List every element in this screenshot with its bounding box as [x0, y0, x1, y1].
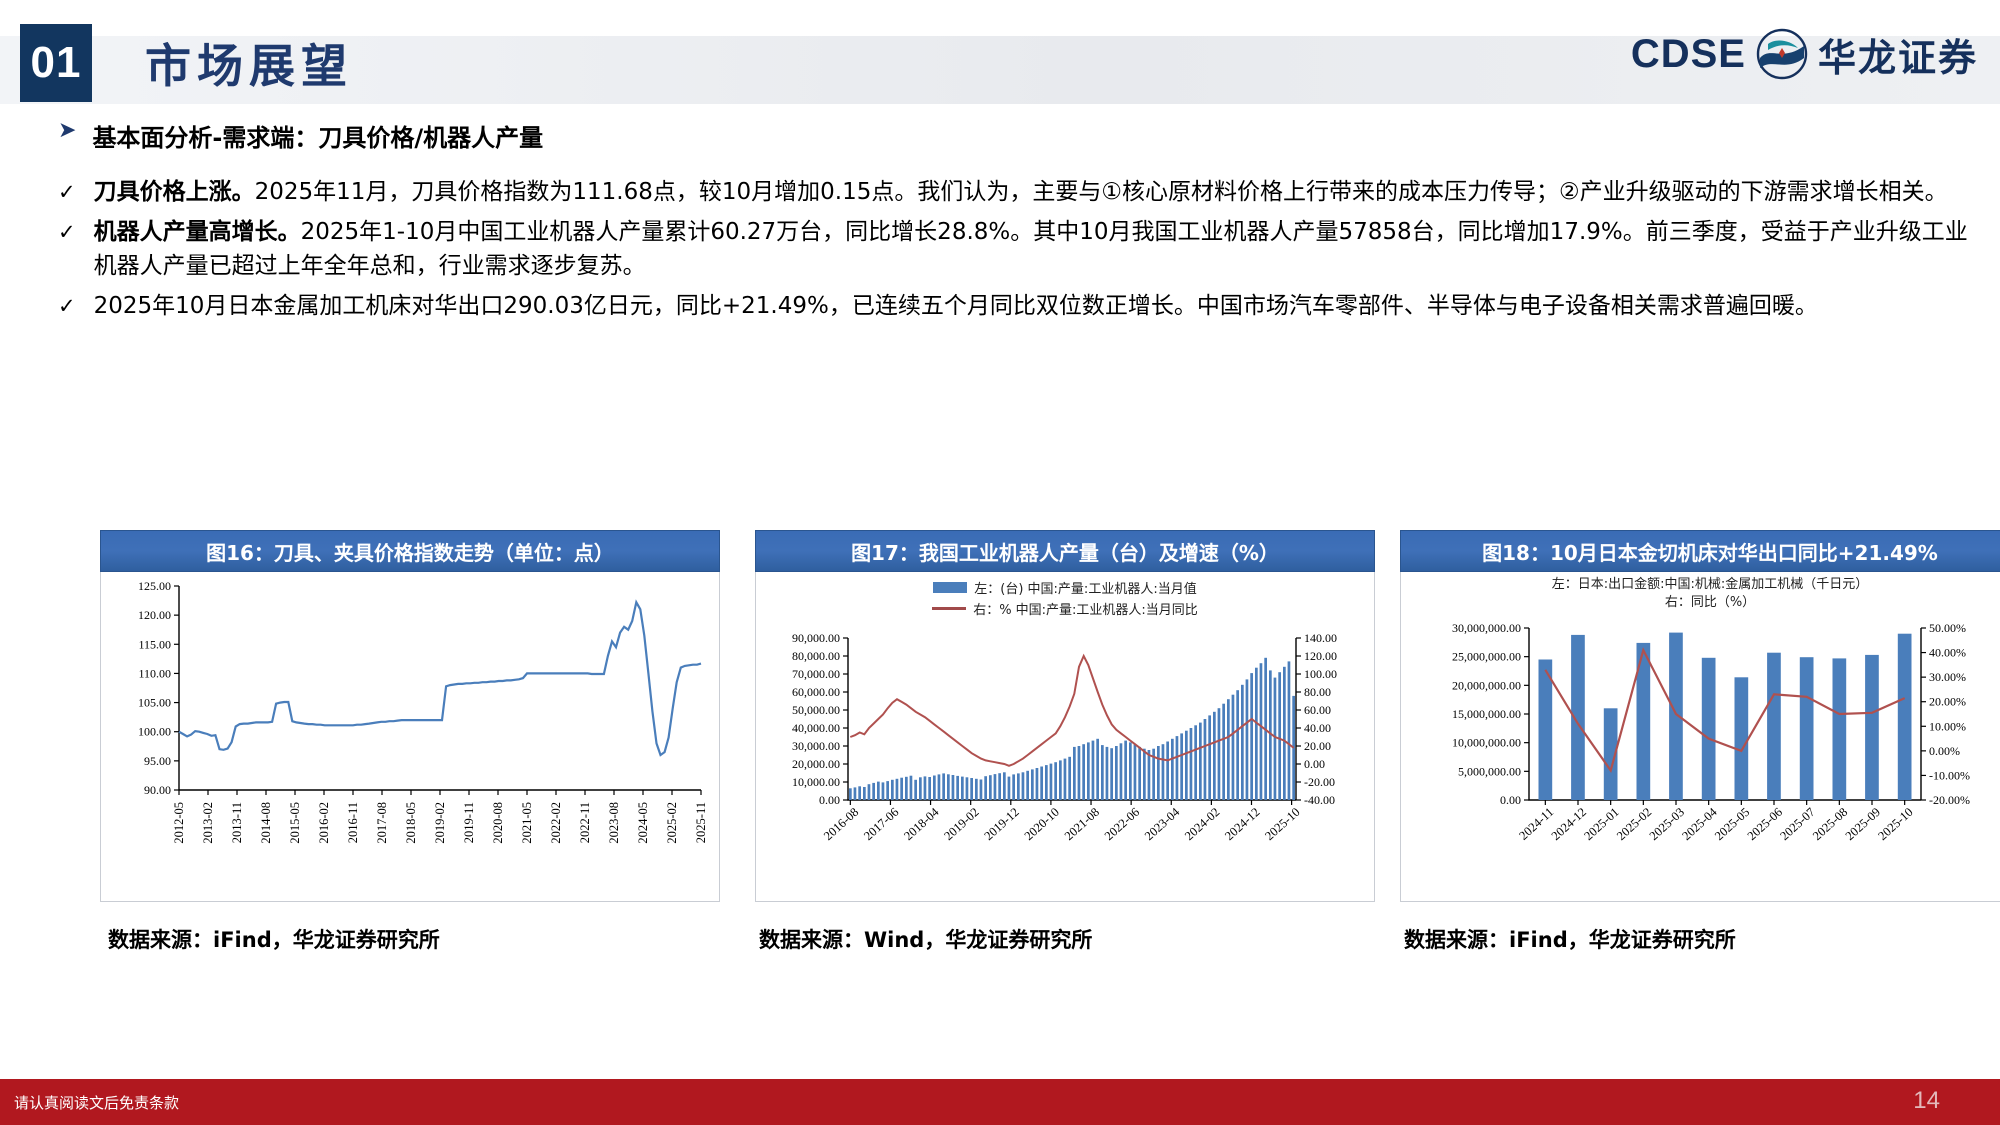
svg-text:2020-08: 2020-08 [491, 802, 505, 844]
body-text-block: ➤ 基本面分析-需求端：刀具价格/机器人产量 ✓ 刀具价格上涨。2025年11月… [58, 118, 1968, 329]
svg-text:100.00: 100.00 [1304, 667, 1337, 681]
chart-body-18: 左：日本:出口金额:中国:机械:金属加工机械（千日元） 右：同比（%） 0.00… [1400, 572, 2000, 902]
svg-text:2024-12: 2024-12 [1549, 805, 1589, 843]
svg-text:20.00: 20.00 [1304, 739, 1331, 753]
svg-text:95.00: 95.00 [144, 754, 171, 768]
chart-source-18: 数据来源：iFind，华龙证券研究所 [1400, 924, 2000, 954]
bullet-text: 刀具价格上涨。2025年11月，刀具价格指数为111.68点，较10月增加0.1… [94, 175, 1968, 209]
svg-text:25,000,000.00: 25,000,000.00 [1452, 650, 1521, 664]
svg-text:2025-11: 2025-11 [694, 802, 708, 843]
svg-text:20.00%: 20.00% [1929, 695, 1966, 709]
svg-text:30,000.00: 30,000.00 [792, 739, 840, 753]
svg-text:2024-11: 2024-11 [1516, 805, 1556, 843]
bullet-item: ✓ 2025年10月日本金属加工机床对华出口290.03亿日元，同比+21.49… [58, 289, 1968, 323]
svg-text:2017-06: 2017-06 [861, 805, 901, 843]
svg-text:125.00: 125.00 [138, 579, 171, 593]
svg-text:2016-02: 2016-02 [317, 802, 331, 844]
svg-text:30,000,000.00: 30,000,000.00 [1452, 621, 1521, 635]
svg-text:-20.00: -20.00 [1304, 775, 1335, 789]
svg-text:2021-08: 2021-08 [1062, 805, 1102, 843]
svg-text:50,000.00: 50,000.00 [792, 703, 840, 717]
svg-text:0.00: 0.00 [1304, 757, 1325, 771]
chart-title-16: 图16：刀具、夹具价格指数走势（单位：点） [100, 530, 720, 572]
svg-text:80,000.00: 80,000.00 [792, 649, 840, 663]
logo-latin-text: CDSE [1631, 32, 1746, 77]
chart-panel-16: 图16：刀具、夹具价格指数走势（单位：点） 90.0095.00100.0010… [100, 530, 720, 954]
svg-text:2020-10: 2020-10 [1022, 805, 1062, 843]
chart-body-16: 90.0095.00100.00105.00110.00115.00120.00… [100, 572, 720, 902]
svg-text:2024-12: 2024-12 [1222, 805, 1262, 843]
bullet-body: 2025年10月日本金属加工机床对华出口290.03亿日元，同比+21.49%，… [94, 293, 1818, 319]
legend-entry-bar: 左：(台) 中国:产量:工业机器人:当月值 [933, 578, 1196, 597]
svg-text:2012-05: 2012-05 [172, 802, 186, 844]
svg-text:2019-11: 2019-11 [462, 802, 476, 843]
svg-text:2019-02: 2019-02 [433, 802, 447, 844]
svg-text:0.00%: 0.00% [1929, 744, 1960, 758]
svg-text:2025-10: 2025-10 [1875, 805, 1915, 843]
svg-text:10.00%: 10.00% [1929, 719, 1966, 733]
chart-panel-18: 图18：10月日本金切机床对华出口同比+21.49% 左：日本:出口金额:中国:… [1400, 530, 2000, 954]
legend-label-right: 右：同比（%） [1401, 594, 2000, 612]
svg-text:105.00: 105.00 [138, 696, 171, 710]
svg-text:-40.00: -40.00 [1304, 793, 1335, 807]
chart-legend-18: 左：日本:出口金额:中国:机械:金属加工机械（千日元） 右：同比（%） [1401, 576, 2000, 611]
svg-text:20,000,000.00: 20,000,000.00 [1452, 678, 1521, 692]
svg-text:20,000.00: 20,000.00 [792, 757, 840, 771]
svg-text:0.00: 0.00 [1500, 793, 1521, 807]
svg-text:2021-05: 2021-05 [520, 802, 534, 844]
svg-text:90,000.00: 90,000.00 [792, 631, 840, 645]
svg-text:115.00: 115.00 [138, 637, 171, 651]
svg-text:2025-10: 2025-10 [1262, 805, 1302, 843]
svg-text:2018-04: 2018-04 [901, 804, 942, 843]
svg-text:50.00%: 50.00% [1929, 621, 1966, 635]
svg-text:2019-02: 2019-02 [941, 805, 981, 843]
svg-text:80.00: 80.00 [1304, 685, 1331, 699]
svg-text:2025-04: 2025-04 [1679, 804, 1720, 843]
legend-entry-line: 右：% 中国:产量:工业机器人:当月同比 [932, 599, 1198, 618]
svg-text:15,000,000.00: 15,000,000.00 [1452, 707, 1521, 721]
logo-chinese-text: 华龙证券 [1818, 27, 1978, 82]
svg-text:60,000.00: 60,000.00 [792, 685, 840, 699]
page-title: 市场展望 [145, 30, 353, 96]
svg-text:-10.00%: -10.00% [1929, 768, 1970, 782]
bullet-body: 2025年1-10月中国工业机器人产量累计60.27万台，同比增长28.8%。其… [94, 219, 1968, 279]
svg-text:110.00: 110.00 [138, 666, 171, 680]
svg-text:10,000.00: 10,000.00 [792, 775, 840, 789]
check-bullet-icon: ✓ [58, 175, 76, 208]
svg-text:2024-02: 2024-02 [1182, 805, 1222, 843]
footer-disclaimer: 请认真阅读文后免责条款 [14, 1092, 179, 1113]
svg-text:90.00: 90.00 [144, 783, 171, 797]
svg-text:2025-05: 2025-05 [1712, 805, 1752, 843]
svg-text:2016-11: 2016-11 [346, 802, 360, 843]
svg-text:30.00%: 30.00% [1929, 670, 1966, 684]
section-number: 01 [20, 24, 92, 102]
circular-wave-emblem-icon [1756, 28, 1808, 80]
svg-text:2023-04: 2023-04 [1142, 804, 1183, 843]
svg-text:2024-05: 2024-05 [636, 802, 650, 844]
svg-text:2025-01: 2025-01 [1581, 805, 1621, 843]
svg-text:2015-05: 2015-05 [288, 802, 302, 844]
svg-text:2025-02: 2025-02 [665, 802, 679, 844]
bullet-item: ✓ 机器人产量高增长。2025年1-10月中国工业机器人产量累计60.27万台，… [58, 215, 1968, 283]
arrow-bullet-icon: ➤ [58, 118, 76, 144]
svg-text:2022-02: 2022-02 [549, 802, 563, 844]
svg-text:2025-09: 2025-09 [1843, 805, 1883, 843]
page-header: 01 市场展望 CDSE 华龙证券 [0, 0, 2000, 112]
chart-source-16: 数据来源：iFind，华龙证券研究所 [100, 924, 720, 954]
chart-legend-17: 左：(台) 中国:产量:工业机器人:当月值 右：% 中国:产量:工业机器人:当月… [756, 578, 1374, 618]
bullet-bold-lead: 机器人产量高增长。 [94, 219, 301, 245]
svg-text:-20.00%: -20.00% [1929, 793, 1970, 807]
svg-text:2014-08: 2014-08 [259, 802, 273, 844]
svg-text:2025-03: 2025-03 [1647, 805, 1687, 843]
chart-source-17: 数据来源：Wind，华龙证券研究所 [755, 924, 1375, 954]
svg-text:140.00: 140.00 [1304, 631, 1337, 645]
svg-text:0.00: 0.00 [819, 793, 840, 807]
bullet-text: 机器人产量高增长。2025年1-10月中国工业机器人产量累计60.27万台，同比… [94, 215, 1968, 283]
svg-text:100.00: 100.00 [138, 725, 171, 739]
bullet-bold-lead: 刀具价格上涨。 [94, 179, 255, 205]
bullet-body: 2025年11月，刀具价格指数为111.68点，较10月增加0.15点。我们认为… [255, 179, 1948, 205]
svg-text:2025-06: 2025-06 [1745, 805, 1785, 843]
line-chart-16: 90.0095.00100.00105.00110.00115.00120.00… [101, 572, 719, 900]
legend-label-left: 左：日本:出口金额:中国:机械:金属加工机械（千日元） [1401, 576, 2000, 594]
svg-text:120.00: 120.00 [138, 608, 171, 622]
page-footer: 请认真阅读文后免责条款 14 [0, 1079, 2000, 1125]
company-logo: CDSE 华龙证券 [1631, 24, 1978, 84]
svg-text:40,000.00: 40,000.00 [792, 721, 840, 735]
svg-text:2022-06: 2022-06 [1102, 805, 1142, 843]
svg-text:120.00: 120.00 [1304, 649, 1337, 663]
svg-text:2022-11: 2022-11 [578, 802, 592, 843]
lead-text: 基本面分析-需求端：刀具价格/机器人产量 [92, 118, 543, 153]
svg-text:2013-02: 2013-02 [201, 802, 215, 844]
bullet-text: 2025年10月日本金属加工机床对华出口290.03亿日元，同比+21.49%，… [94, 289, 1968, 323]
svg-text:40.00%: 40.00% [1929, 646, 1966, 660]
lead-line: ➤ 基本面分析-需求端：刀具价格/机器人产量 [58, 118, 1968, 153]
svg-text:2018-05: 2018-05 [404, 802, 418, 844]
combo-chart-17: 0.0010,000.0020,000.0030,000.0040,000.00… [756, 572, 1374, 900]
check-bullet-icon: ✓ [58, 215, 76, 248]
svg-text:2019-12: 2019-12 [981, 805, 1021, 843]
chart-body-17: 左：(台) 中国:产量:工业机器人:当月值 右：% 中国:产量:工业机器人:当月… [755, 572, 1375, 902]
svg-text:2025-02: 2025-02 [1614, 805, 1654, 843]
svg-text:5,000,000.00: 5,000,000.00 [1458, 764, 1521, 778]
chart-title-17: 图17：我国工业机器人产量（台）及增速（%） [755, 530, 1375, 572]
svg-text:60.00: 60.00 [1304, 703, 1331, 717]
svg-text:40.00: 40.00 [1304, 721, 1331, 735]
check-bullet-icon: ✓ [58, 289, 76, 322]
combo-chart-18: 0.005,000,000.0010,000,000.0015,000,000.… [1401, 572, 2000, 900]
svg-text:2023-08: 2023-08 [607, 802, 621, 844]
svg-text:2017-08: 2017-08 [375, 802, 389, 844]
page-number: 14 [1913, 1087, 1940, 1115]
legend-line-swatch-icon [932, 607, 966, 610]
legend-label-left: 左：(台) 中国:产量:工业机器人:当月值 [974, 578, 1196, 597]
chart-title-18: 图18：10月日本金切机床对华出口同比+21.49% [1400, 530, 2000, 572]
bullet-item: ✓ 刀具价格上涨。2025年11月，刀具价格指数为111.68点，较10月增加0… [58, 175, 1968, 209]
svg-text:2016-08: 2016-08 [821, 805, 861, 843]
svg-text:2025-08: 2025-08 [1810, 805, 1850, 843]
svg-text:2025-07: 2025-07 [1777, 805, 1817, 843]
svg-text:70,000.00: 70,000.00 [792, 667, 840, 681]
legend-label-right: 右：% 中国:产量:工业机器人:当月同比 [973, 599, 1198, 618]
chart-panel-17: 图17：我国工业机器人产量（台）及增速（%） 左：(台) 中国:产量:工业机器人… [755, 530, 1375, 954]
legend-bar-swatch-icon [933, 582, 967, 593]
svg-text:2013-11: 2013-11 [230, 802, 244, 843]
svg-text:10,000,000.00: 10,000,000.00 [1452, 736, 1521, 750]
